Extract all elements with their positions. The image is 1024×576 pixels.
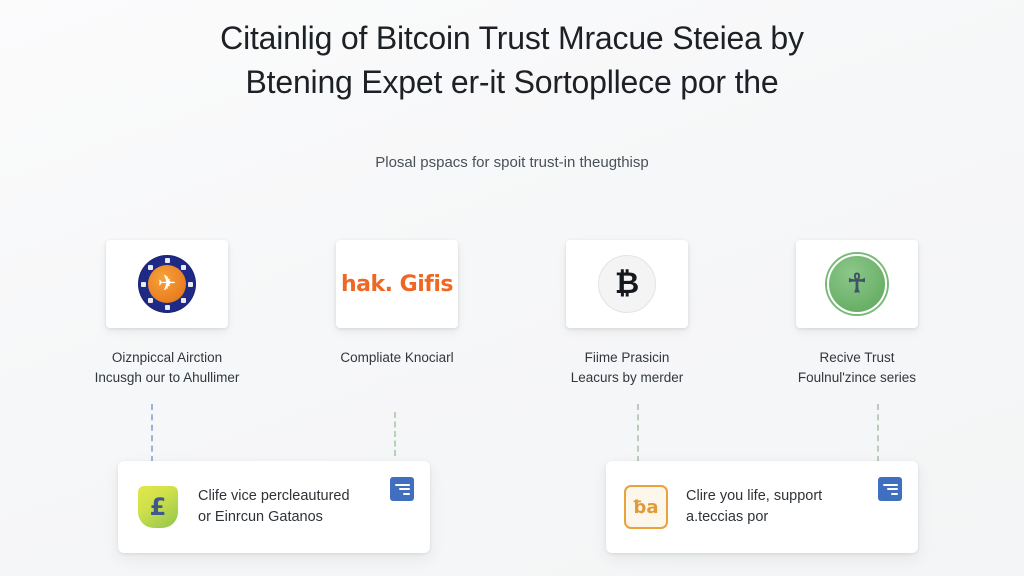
orange-frame-glyph: ƀa — [624, 485, 668, 529]
panel-left-text: Clife vice percleautured or Einrcun Gata… — [198, 486, 350, 528]
connector-card-3 — [637, 404, 639, 462]
icon-card-1[interactable]: ✈ — [106, 240, 228, 328]
feature-card-1-caption: Oiznpiccal Airction Incusgh our to Ahull… — [95, 348, 240, 388]
panel-left[interactable]: £ Clife vice percleautured or Einrcun Ga… — [118, 461, 430, 553]
panel-right[interactable]: ƀa Clire you life, support a.teccias por — [606, 461, 918, 553]
page-root: Citainlig of Bitcoin Trust Mracue Steiea… — [0, 0, 1024, 576]
bitcoin-symbol-icon: ₿ — [598, 255, 656, 313]
feature-card-2-caption: Compliate Knociarl — [340, 348, 453, 368]
page-title-line-1: Citainlig of Bitcoin Trust Mracue Steiea… — [0, 16, 1024, 60]
feature-card-4[interactable]: ☥ Recive Trust Foulnul'zince series — [752, 240, 962, 388]
connector-card-4 — [877, 404, 879, 462]
document-lines-icon-right[interactable] — [878, 477, 902, 501]
olympic-rings-logo-icon: ✈ — [138, 255, 196, 313]
feature-card-4-caption: Recive Trust Foulnul'zince series — [798, 348, 916, 388]
hak-gifis-wordmark-icon: hak. Gifis — [341, 272, 453, 297]
pound-shield-icon: £ — [136, 485, 180, 529]
feature-card-1[interactable]: ✈ Oiznpiccal Airction Incusgh our to Ahu… — [62, 240, 272, 388]
icon-card-2[interactable]: hak. Gifis — [336, 240, 458, 328]
orange-frame-icon: ƀa — [624, 485, 668, 529]
connector-card-2 — [394, 412, 396, 456]
icon-card-4[interactable]: ☥ — [796, 240, 918, 328]
feature-card-2[interactable]: hak. Gifis Compliate Knociarl — [292, 240, 502, 388]
pound-shield-glyph: £ — [138, 486, 178, 528]
feature-card-3-caption: Fiime Prasicin Leacurs by merder — [571, 348, 684, 388]
page-subtitle: Plosal pspacs for spoit trust-in theugth… — [0, 152, 1024, 174]
connector-card-1 — [151, 404, 153, 462]
page-title: Citainlig of Bitcoin Trust Mracue Steiea… — [0, 16, 1024, 104]
olympic-figure-glyph: ✈ — [158, 273, 176, 295]
document-lines-icon-left[interactable] — [390, 477, 414, 501]
panel-right-text: Clire you life, support a.teccias por — [686, 486, 822, 528]
feature-card-row: ✈ Oiznpiccal Airction Incusgh our to Ahu… — [62, 240, 962, 388]
page-title-line-2: Btening Expet er-it Sortopllece por the — [0, 60, 1024, 104]
icon-card-3[interactable]: ₿ — [566, 240, 688, 328]
green-seal-badge-icon: ☥ — [827, 254, 887, 314]
feature-card-3[interactable]: ₿ Fiime Prasicin Leacurs by merder — [522, 240, 732, 388]
